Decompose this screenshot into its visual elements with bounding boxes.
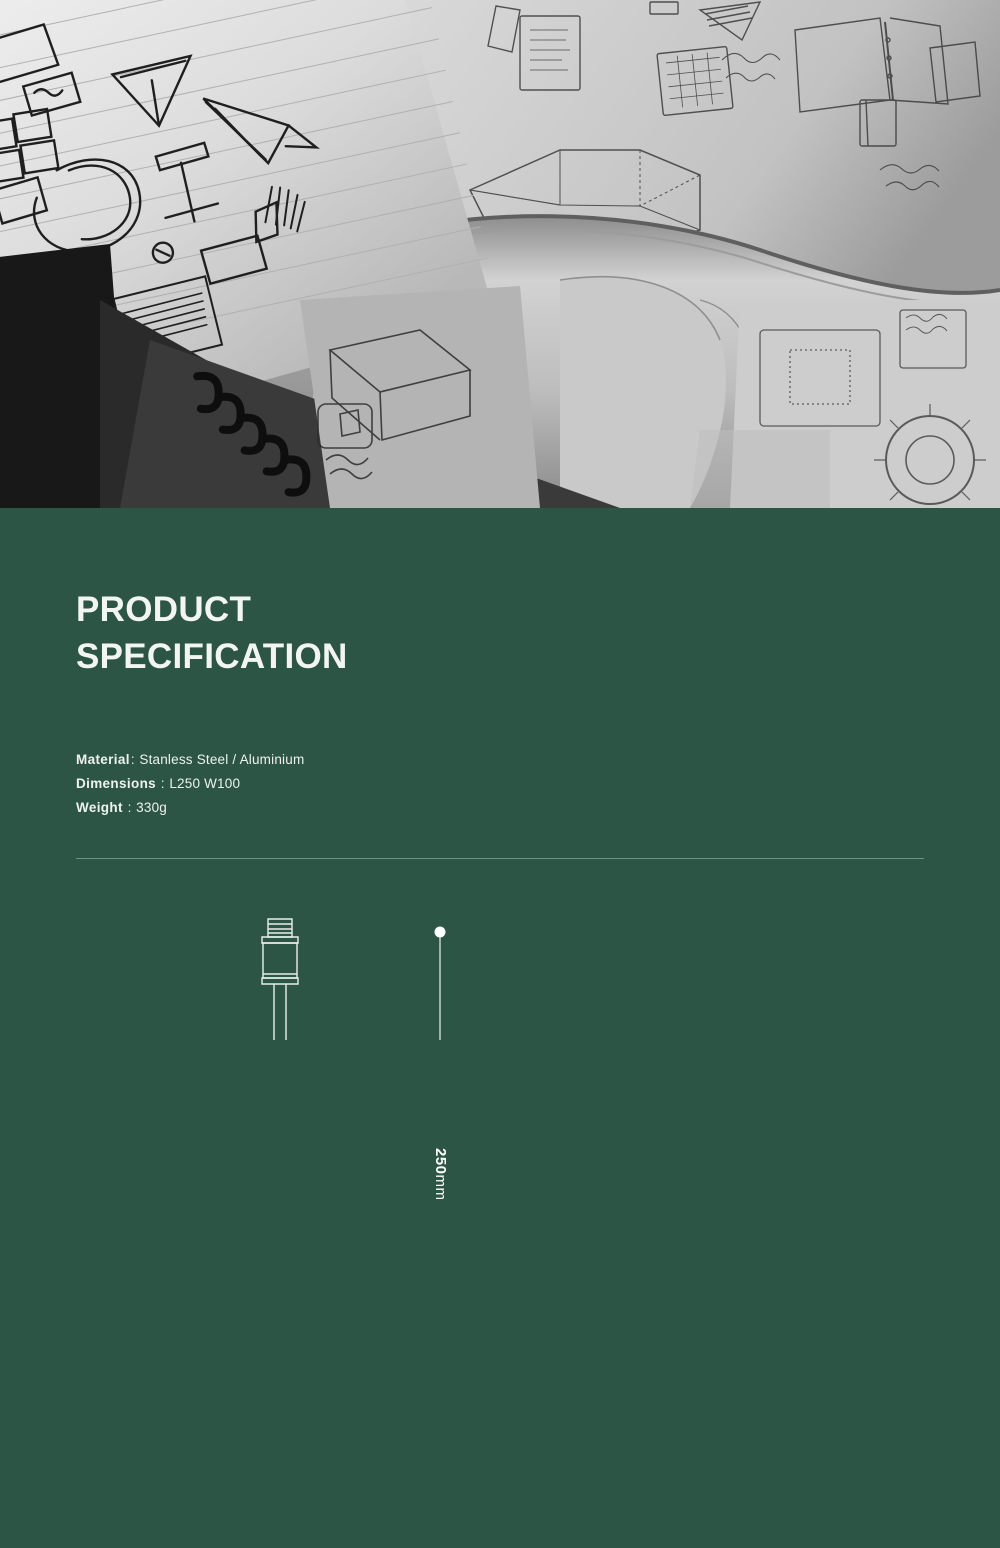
vertical-dimension-label: 250mm: [432, 1148, 449, 1201]
tripod-line-art: [0, 390, 1000, 1040]
vertical-dimension-unit: mm: [432, 1175, 449, 1201]
product-technical-drawing: 250mm 100mm: [0, 390, 1000, 1040]
vertical-dimension-value: 250: [432, 1148, 449, 1175]
dimension-endpoint-top: [435, 927, 446, 938]
product-specification-page: PRODUCT SPECIFICATION Material: Stanless…: [0, 0, 1000, 1548]
